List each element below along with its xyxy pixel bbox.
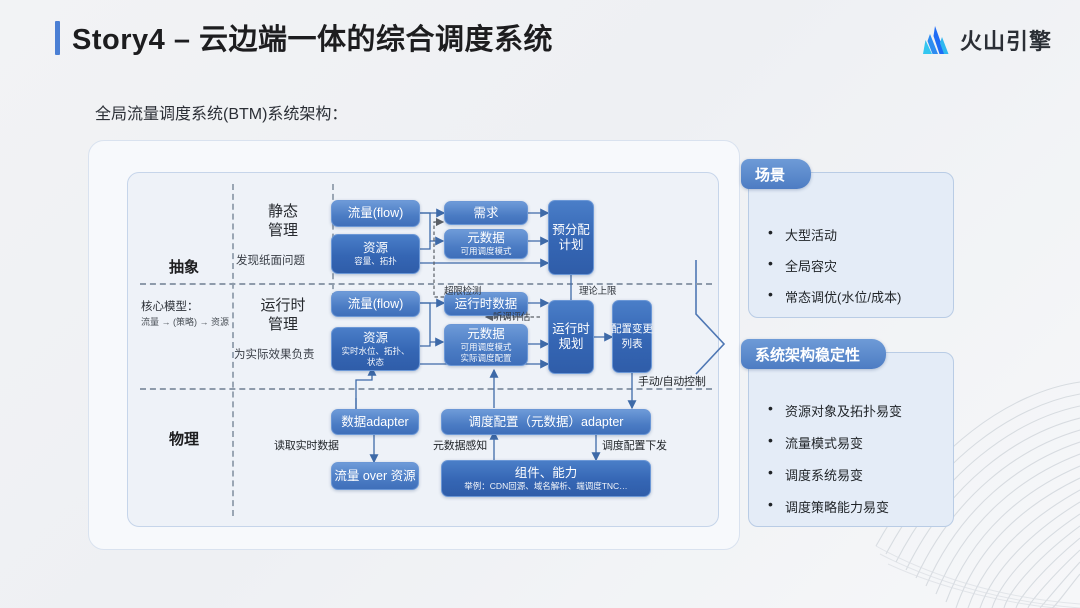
box-metadata-static-label: 元数据 <box>467 231 505 246</box>
box-metadata-static[interactable]: 元数据 可用调度模式 <box>444 229 528 259</box>
box-demand-label: 需求 <box>473 206 498 221</box>
box-components[interactable]: 组件、能力 举例：CDN回源、域名解析、端调度TNC… <box>441 460 651 497</box>
box-change-list[interactable]: 配置变更 列表 <box>612 300 652 373</box>
brand-name: 火山引擎 <box>960 24 1052 56</box>
core-model-label: 核心模型： 流量 → (策略) → 资源 <box>141 300 229 330</box>
box-flow-runtime[interactable]: 流量(flow) <box>331 291 420 317</box>
mode-label-runtime: 运行时 管理 <box>247 296 319 334</box>
brand-logo: 火山引擎 <box>919 24 1052 56</box>
title-accent-bar <box>55 21 60 55</box>
box-prealloc-plan-line1: 预分配 <box>552 223 590 238</box>
box-flow-over-resource[interactable]: 流量 over 资源 <box>331 462 419 490</box>
box-metadata-runtime-sub1: 可用调度模式 <box>460 342 511 353</box>
box-components-label: 组件、能力 <box>515 466 578 481</box>
annotation-sched-cfg-push: 调度配置下发 <box>602 437 667 453</box>
box-resource-static-label: 资源 <box>363 241 388 256</box>
mode-runtime-line2: 管理 <box>268 316 298 333</box>
annotation-theory-cap: 理论上限 <box>579 283 616 297</box>
panel-scene: 场景 大型活动 全局容灾 常态调优(水位/成本) <box>748 172 954 318</box>
annotation-manual-auto: 手动/自动控制 <box>638 373 706 389</box>
box-data-adapter[interactable]: 数据adapter <box>331 409 419 435</box>
annotation-read-realtime: 读取实时数据 <box>274 437 339 453</box>
box-flow-static[interactable]: 流量(flow) <box>331 200 420 227</box>
box-flow-static-label: 流量(flow) <box>348 206 404 221</box>
box-runtime-plan-line1: 运行时 <box>552 322 590 337</box>
list-item: 资源对象及拓扑易变 <box>763 401 953 420</box>
mode-note-static: 发现纸面问题 <box>236 252 305 268</box>
box-resource-runtime[interactable]: 资源 实时水位、拓扑、 状态 <box>331 327 420 371</box>
box-runtime-plan-line2: 规划 <box>558 337 583 352</box>
list-item: 常态调优(水位/成本) <box>763 287 953 306</box>
panel-stability-title: 系统架构稳定性 <box>741 339 886 369</box>
divider-horizontal-top <box>140 283 712 285</box>
box-resource-runtime-label: 资源 <box>363 331 388 346</box>
box-data-adapter-label: 数据adapter <box>341 415 408 430</box>
box-runtime-plan[interactable]: 运行时 规划 <box>548 300 594 374</box>
mode-static-line1: 静态 <box>268 203 298 220</box>
panel-scene-title: 场景 <box>741 159 811 189</box>
list-item: 调度策略能力易变 <box>763 497 953 516</box>
annotation-overlimit-detect: 超限检测 <box>444 283 481 297</box>
box-resource-static[interactable]: 资源 容量、拓扑 <box>331 234 420 274</box>
box-resource-runtime-sub2: 状态 <box>367 357 384 368</box>
page-title: Story4 – 云边端一体的综合调度系统 <box>72 16 553 58</box>
divider-horizontal-bot <box>140 388 712 390</box>
section-subtitle: 全局流量调度系统(BTM)系统架构： <box>95 100 347 124</box>
box-resource-static-sub: 容量、拓扑 <box>354 256 397 267</box>
list-item: 全局容灾 <box>763 256 953 275</box>
box-resource-runtime-sub1: 实时水位、拓扑、 <box>341 346 409 357</box>
layer-label-physical: 物理 <box>169 428 199 449</box>
box-metadata-runtime-label: 元数据 <box>467 327 505 342</box>
panel-scene-list: 大型活动 全局容灾 常态调优(水位/成本) <box>749 173 953 306</box>
box-change-list-line1: 配置变更 <box>611 322 653 337</box>
box-flow-runtime-label: 流量(flow) <box>348 297 404 312</box>
box-prealloc-plan-line2: 计划 <box>558 238 583 253</box>
box-change-list-line2: 列表 <box>622 337 643 352</box>
box-sched-config-adapter-label: 调度配置（元数据）adapter <box>469 415 624 430</box>
core-model-title: 核心模型： <box>141 301 199 313</box>
layer-label-abstract: 抽象 <box>169 256 199 277</box>
panel-stability: 系统架构稳定性 资源对象及拓扑易变 流量模式易变 调度系统易变 调度策略能力易变 <box>748 352 954 527</box>
annotation-metadata-sense: 元数据感知 <box>433 437 487 453</box>
mountain-logo-icon <box>919 25 951 55</box>
mode-note-runtime: 为实际效果负责 <box>234 346 315 362</box>
page-header: Story4 – 云边端一体的综合调度系统 火山引擎 <box>0 0 1080 78</box>
core-model-formula: 流量 → (策略) → 资源 <box>141 317 229 327</box>
box-prealloc-plan[interactable]: 预分配 计划 <box>548 200 594 275</box>
panel-stability-list: 资源对象及拓扑易变 流量模式易变 调度系统易变 调度策略能力易变 <box>749 353 953 516</box>
list-item: 调度系统易变 <box>763 465 953 484</box>
mode-label-static: 静态 管理 <box>250 202 316 240</box>
list-item: 流量模式易变 <box>763 433 953 452</box>
box-demand[interactable]: 需求 <box>444 201 528 225</box>
annotation-sched-eval: 听调评估 <box>493 309 530 323</box>
mode-static-line2: 管理 <box>268 222 298 239</box>
box-components-sub: 举例：CDN回源、域名解析、端调度TNC… <box>464 481 627 492</box>
list-item: 大型活动 <box>763 225 953 244</box>
box-sched-config-adapter[interactable]: 调度配置（元数据）adapter <box>441 409 651 435</box>
box-metadata-static-sub: 可用调度模式 <box>460 246 511 257</box>
mode-runtime-line1: 运行时 <box>260 297 305 314</box>
box-metadata-runtime[interactable]: 元数据 可用调度模式 实际调度配置 <box>444 324 528 366</box>
box-metadata-runtime-sub2: 实际调度配置 <box>460 353 511 364</box>
box-flow-over-resource-label: 流量 over 资源 <box>334 469 415 484</box>
